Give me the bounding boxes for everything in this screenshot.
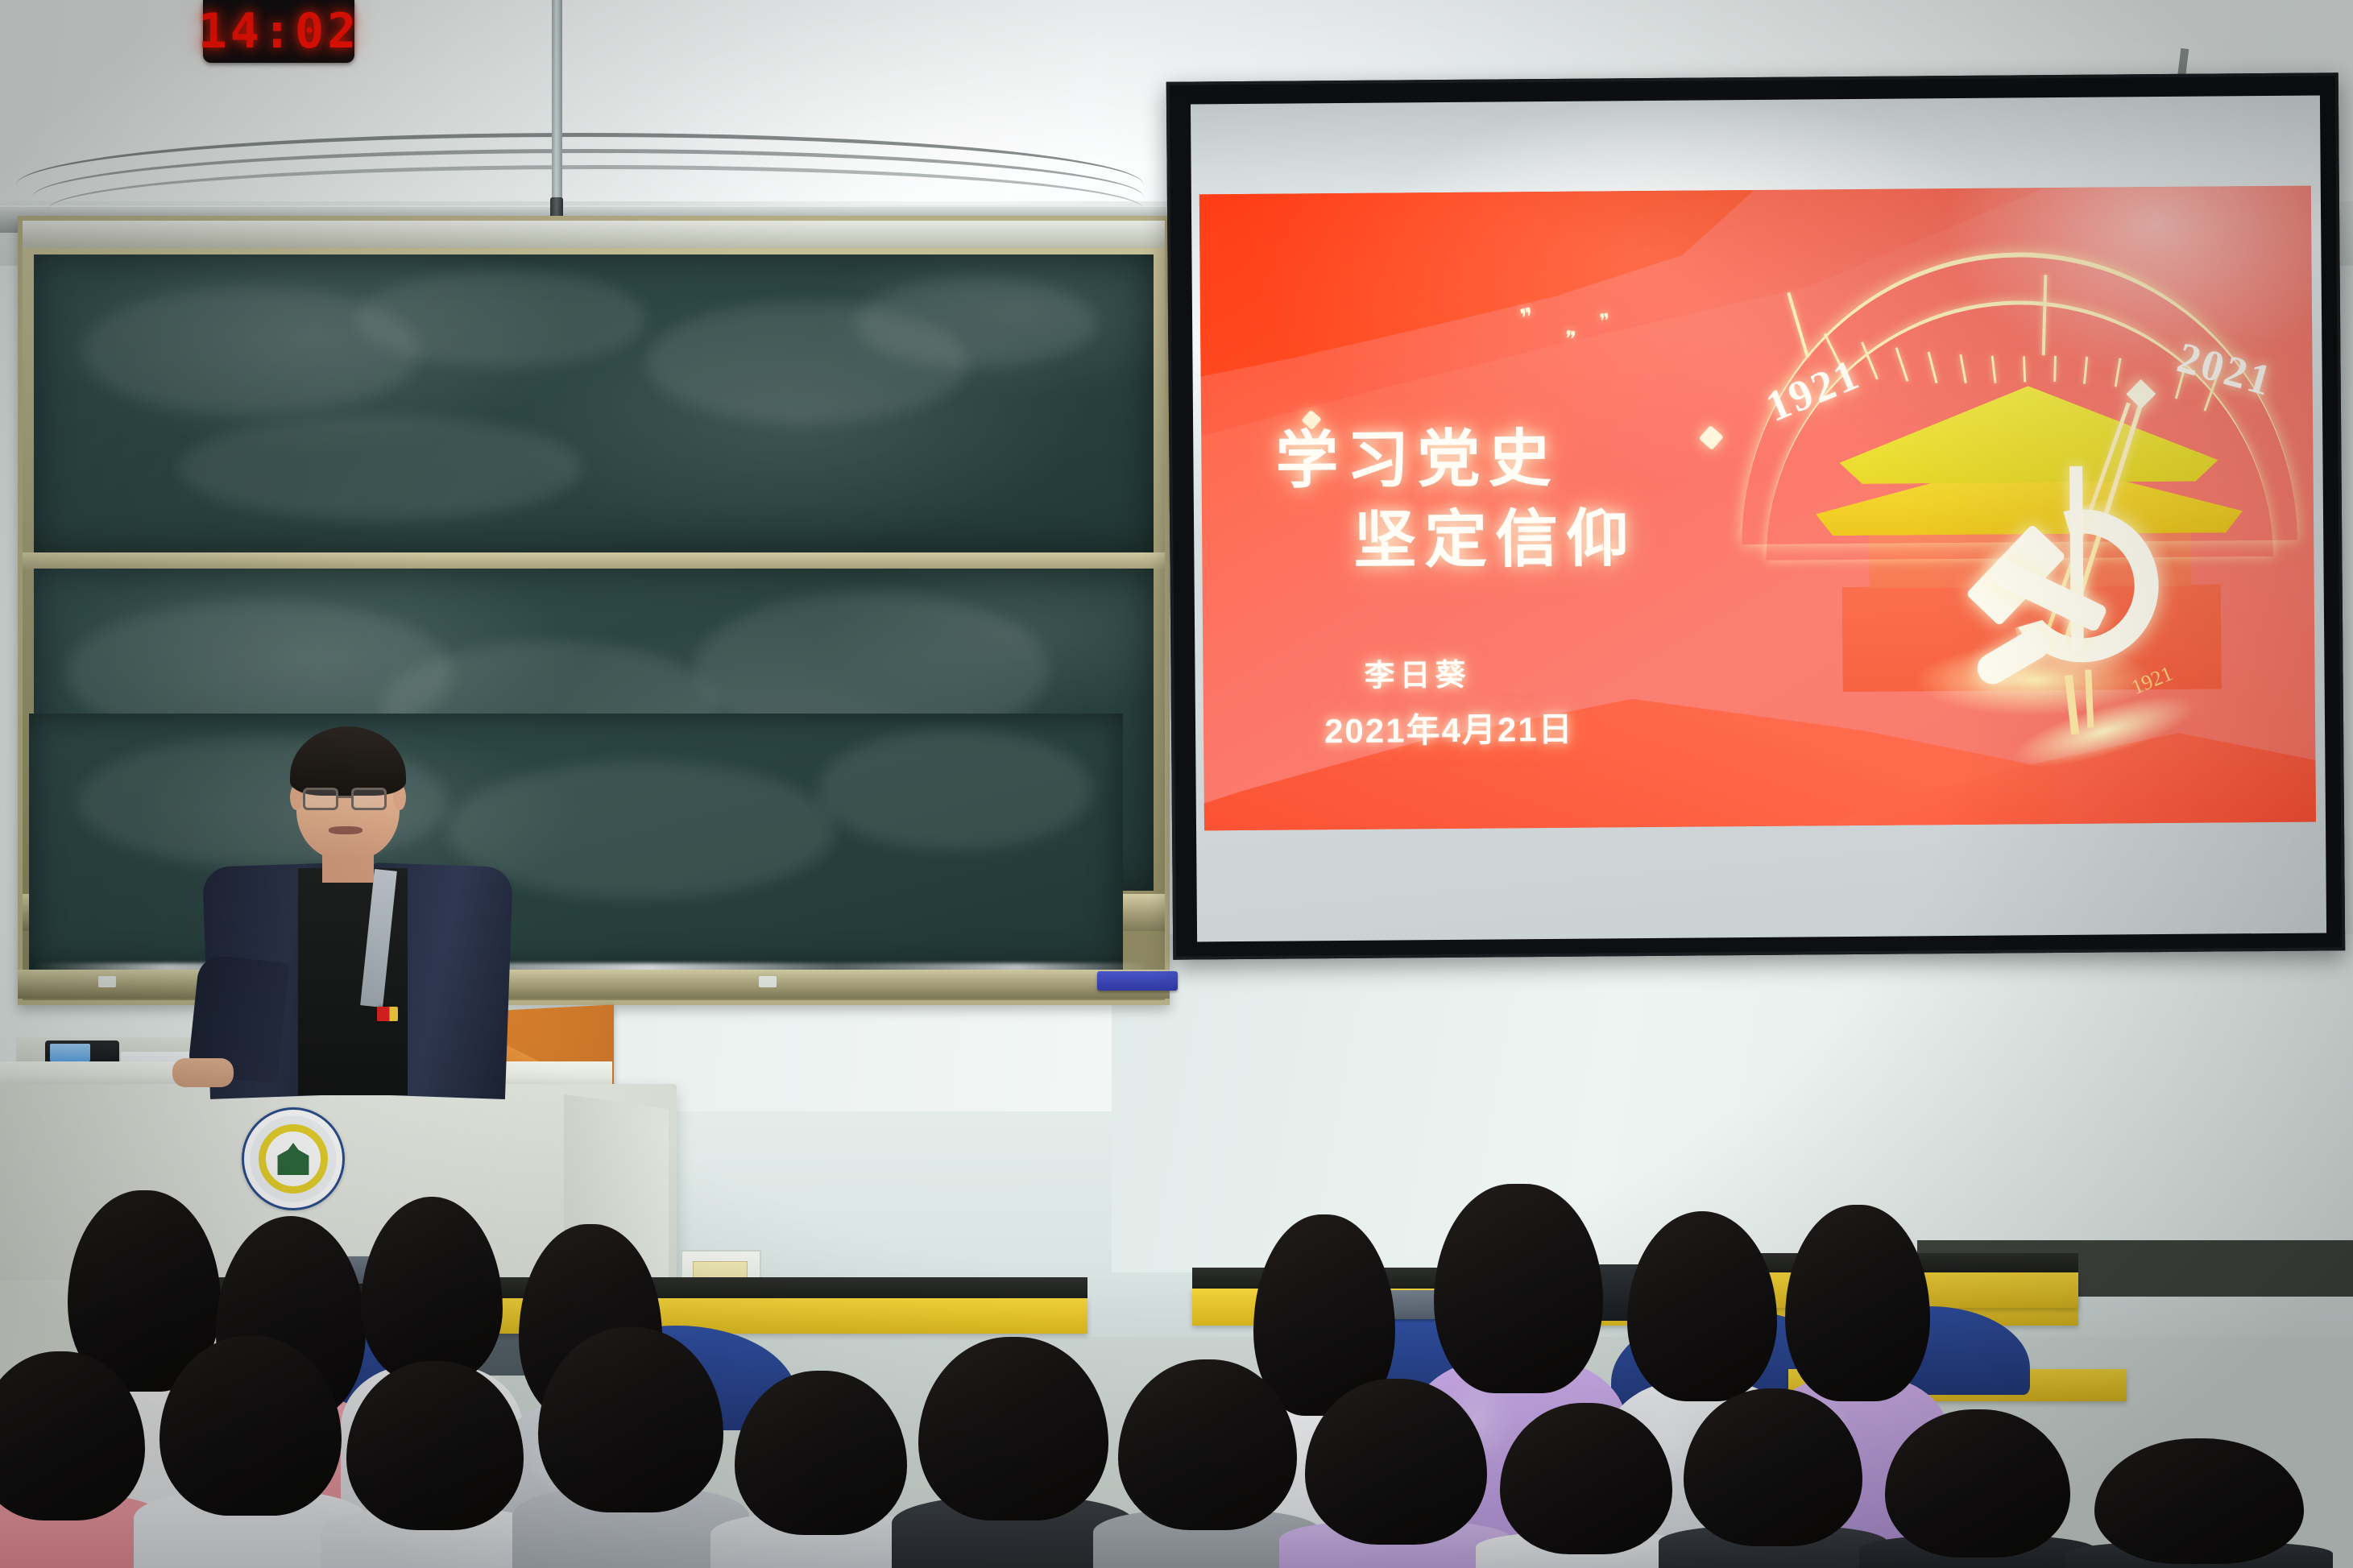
glasses-icon: [303, 788, 338, 810]
mic-display-screen: [50, 1044, 90, 1061]
projection-screen: ❞ ❞ ❞ 学习党史 坚定信仰 李日葵 2021年4月21日: [1166, 72, 2346, 959]
slide-title-line2: 坚定信仰: [1353, 499, 1638, 581]
blackboard-top-lip: [23, 221, 1165, 248]
slide-title: 学习党史 坚定信仰: [1275, 418, 1638, 581]
clock-time-display: 14:02: [198, 3, 360, 60]
student-hair: [346, 1361, 524, 1530]
student: [159, 1335, 342, 1568]
slide-presenter-name: 李日葵: [1364, 650, 1470, 695]
chalk-piece[interactable]: [98, 976, 116, 987]
student: [918, 1337, 1108, 1568]
glasses-icon: [351, 788, 387, 810]
chalk-piece[interactable]: [759, 976, 777, 987]
student-hair: [1500, 1403, 1672, 1554]
presenter-hand: [172, 1058, 234, 1087]
student-hair: [1627, 1211, 1777, 1401]
student: [346, 1361, 524, 1568]
student-hair: [735, 1371, 907, 1535]
blackboard-panel-lower: [29, 714, 1123, 970]
student-hair: [0, 1351, 145, 1520]
student: [1684, 1388, 1862, 1568]
student: [1500, 1403, 1672, 1568]
presentation-slide: ❞ ❞ ❞ 学习党史 坚定信仰 李日葵 2021年4月21日: [1199, 186, 2316, 831]
student-hair: [1118, 1359, 1297, 1530]
student: [2094, 1438, 2304, 1568]
glasses-bridge: [338, 796, 351, 798]
metal-pole: [552, 0, 562, 209]
student-hair: [1785, 1205, 1930, 1401]
screen-surface: ❞ ❞ ❞ 学习党史 坚定信仰 李日葵 2021年4月21日: [1191, 95, 2326, 941]
blackboard-bottom-rail: [18, 970, 1170, 999]
student-hair: [918, 1337, 1108, 1520]
student: [0, 1351, 145, 1568]
student: [1305, 1379, 1487, 1568]
party-member-badge: [377, 1007, 398, 1021]
birds-icon: ❞: [1599, 312, 1612, 332]
student: [1118, 1359, 1297, 1568]
sparkle-icon: [1699, 425, 1724, 450]
slide-title-line1: 学习党史: [1275, 424, 1560, 496]
student-hair: [538, 1327, 723, 1512]
birds-icon: ❞: [1564, 328, 1577, 350]
presenter-hair: [290, 726, 406, 796]
university-seal-emblem: [242, 1107, 345, 1210]
classroom-scene: 14:02: [0, 0, 2353, 1568]
student-hair: [159, 1335, 342, 1516]
blackboard-divider-1: [23, 552, 1165, 570]
student-hair: [361, 1197, 503, 1384]
blackboard-eraser[interactable]: [1097, 971, 1178, 991]
student-hair: [1885, 1409, 2070, 1558]
student: [538, 1327, 723, 1568]
blackboard-panel-upper: [34, 254, 1154, 552]
student-hair: [1684, 1388, 1862, 1546]
slide-date: 2021年4月21日: [1324, 702, 1574, 753]
student-hair: [2094, 1438, 2304, 1564]
presenter-at-podium: [201, 717, 540, 1095]
student: [1885, 1409, 2070, 1568]
student-hair: [1434, 1184, 1603, 1393]
student: [735, 1371, 907, 1568]
student-hair: [1305, 1379, 1487, 1545]
presenter-mouth: [329, 826, 362, 834]
wall-digital-clock: 14:02: [203, 0, 354, 63]
